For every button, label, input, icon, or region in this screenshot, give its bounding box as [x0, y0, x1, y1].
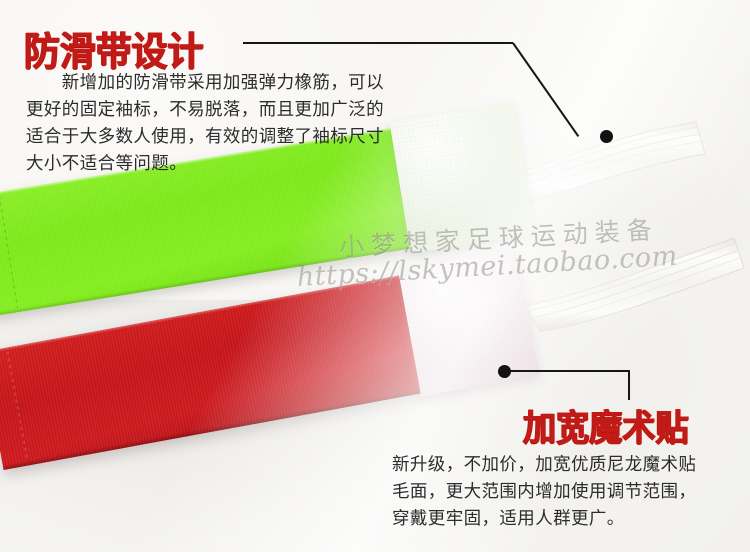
top-body-text: 新增加的防滑带采用加强弹力橡筋，可以 更好的固定袖标，不易脱落，而且更加广泛的 …: [26, 70, 446, 178]
bottom-leader-horizontal: [509, 370, 630, 372]
bottom-leader-vertical: [628, 370, 630, 400]
product-detail-image: 小梦想家足球运动装备 https://lskymei.taobao.com 防滑…: [0, 0, 750, 552]
elastic-strap-green: [500, 110, 750, 220]
top-leader-horizontal: [243, 42, 513, 44]
top-heading: 防滑带设计: [24, 21, 203, 77]
velcro-texture-red: [398, 249, 539, 397]
top-leader-dot: [600, 130, 613, 143]
bottom-body-text: 新升级，不加价，加宽优质尼龙魔术贴 毛面，更大范围内增加使用调节范围， 穿戴更牢…: [392, 452, 740, 533]
bottom-heading: 加宽魔术贴: [523, 399, 689, 451]
elastic-strap-red: [520, 232, 750, 342]
velcro-patch-red: [398, 249, 539, 397]
